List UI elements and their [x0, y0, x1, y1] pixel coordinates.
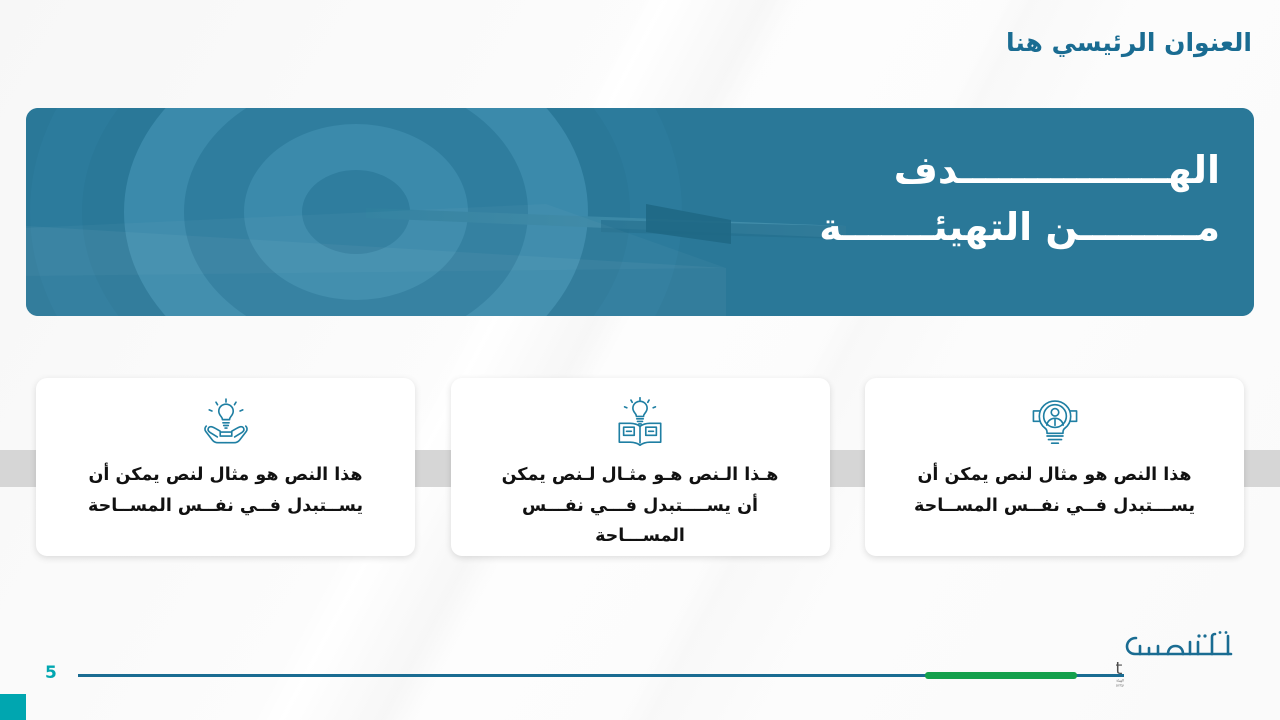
hero-headline: الهــــــــــــــــدف مـــــــــن التهيئ… — [460, 142, 1220, 256]
hands-holding-lightbulb-icon — [199, 397, 253, 449]
card-row: هذا النص هو مثال لنص يمكن أن يســتبدل فـ… — [36, 378, 1244, 556]
info-card-3[interactable]: هذا النص هو مثال لنص يمكن أن يســـتبدل ف… — [865, 378, 1244, 556]
monshaat-logo: monsha'at الهيئة العامة للمنشآت الصغيرة … — [1116, 630, 1262, 688]
open-book-lightbulb-icon — [613, 397, 667, 449]
logo-tagline-en: Small and Medium Enterprises General Aut… — [1116, 684, 1125, 688]
info-card-3-text: هذا النص هو مثال لنص يمكن أن يســـتبدل ف… — [905, 460, 1205, 521]
hero-headline-line-2: مـــــــــن التهيئـــــــة — [460, 199, 1220, 256]
hero-headline-line-1: الهــــــــــــــــدف — [460, 142, 1220, 199]
page-number: 5 — [45, 663, 57, 683]
hero-banner: الهــــــــــــــــدف مـــــــــن التهيئ… — [26, 108, 1254, 316]
info-card-2[interactable]: هـذا الـنص هـو مثـال لـنص يمكن أن يســــ… — [451, 378, 830, 556]
person-in-lightbulb-gear-icon — [1028, 397, 1082, 449]
corner-accent-square — [0, 694, 26, 720]
page-title: العنوان الرئيسي هنا — [1006, 28, 1252, 57]
logo-tagline-ar: الهيئة العامة للمنشآت الصغيرة والمتوسطة — [1116, 678, 1124, 683]
logo-latin-wordmark: monsha'at — [1116, 659, 1124, 679]
slide-canvas: العنوان الرئيسي هنا — [0, 0, 1280, 720]
info-card-1-text: هذا النص هو مثال لنص يمكن أن يســتبدل فـ… — [76, 460, 376, 521]
footer-progress-segment — [925, 672, 1077, 679]
info-card-2-text: هـذا الـنص هـو مثـال لـنص يمكن أن يســــ… — [490, 460, 790, 552]
info-card-1[interactable]: هذا النص هو مثال لنص يمكن أن يســتبدل فـ… — [36, 378, 415, 556]
